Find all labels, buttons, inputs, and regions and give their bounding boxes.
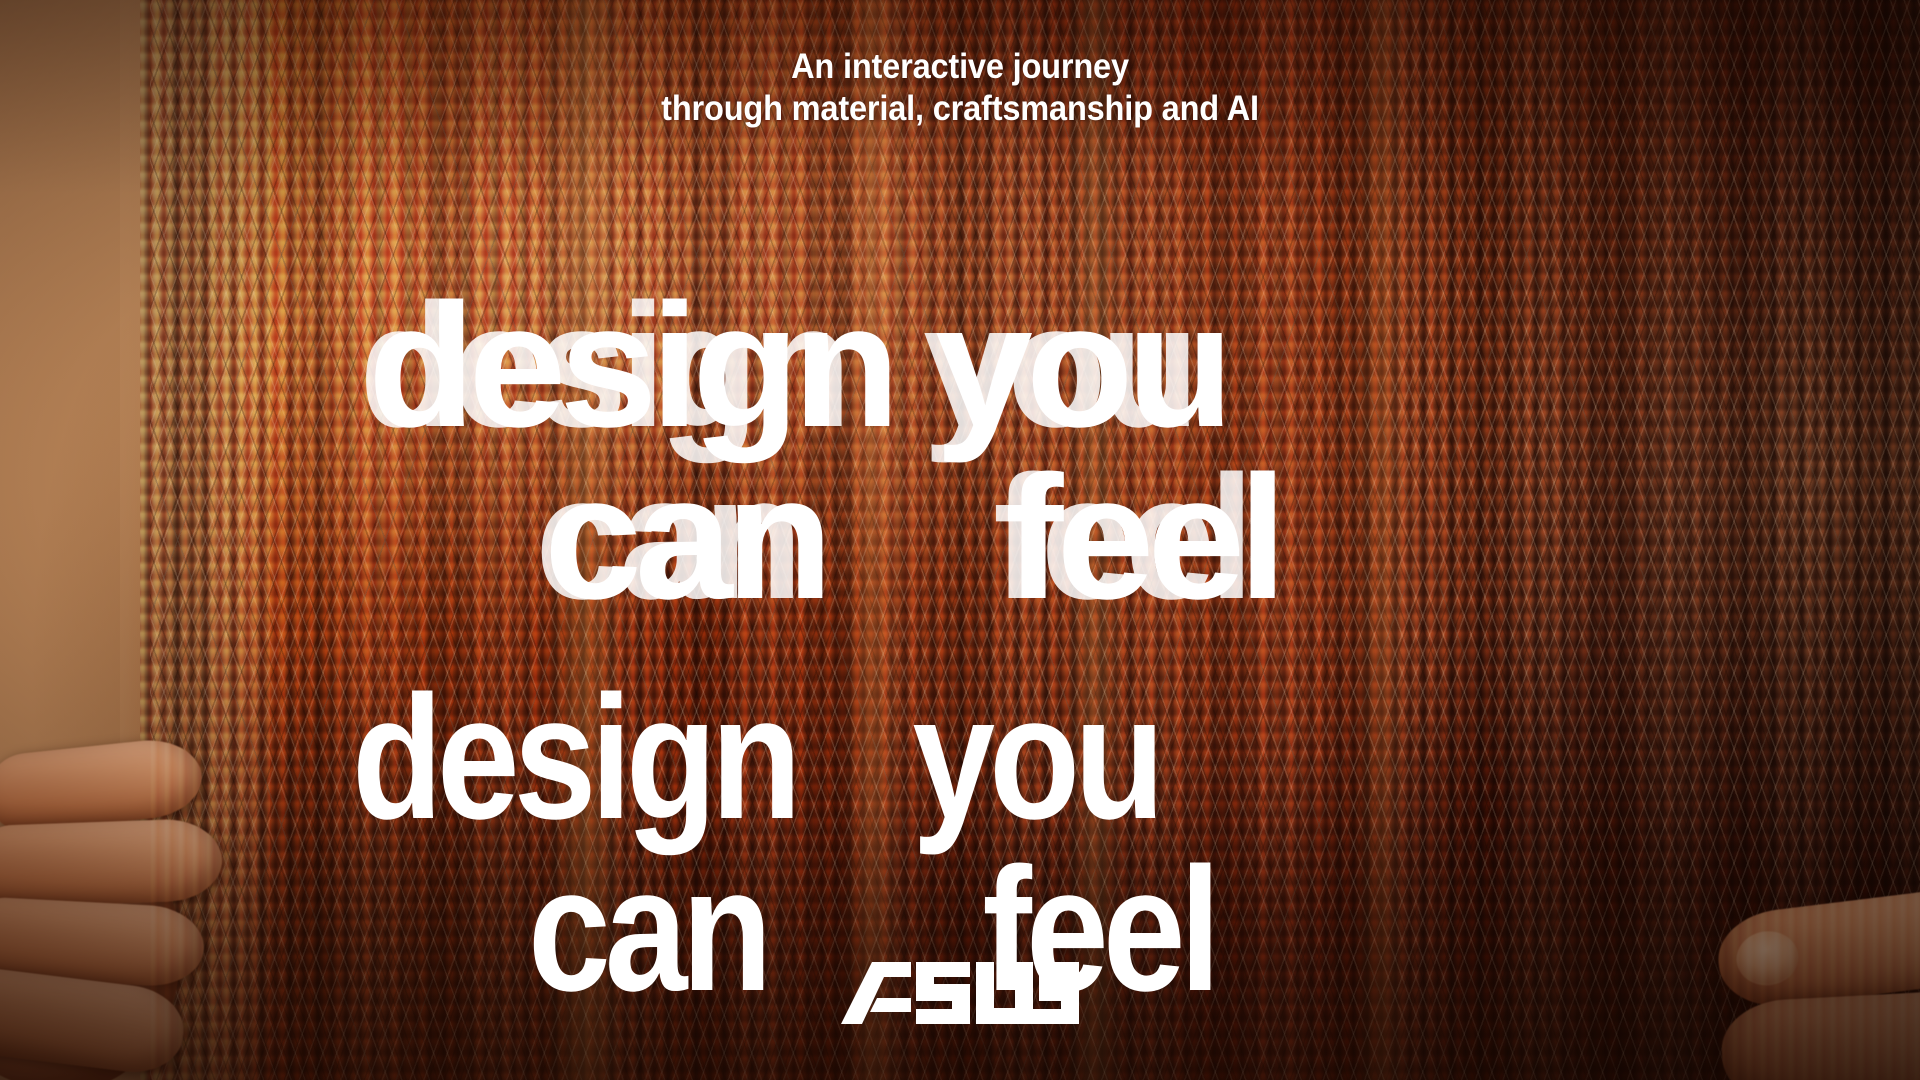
headline-word-layer-narrow: can <box>528 832 882 1028</box>
headline-word-layer-wide: you <box>893 268 1227 464</box>
headline-line-2: can can can feel feel feel <box>0 440 1920 636</box>
headline-word-layer-wide: design <box>368 268 893 464</box>
asus-logo <box>841 962 1079 1024</box>
headline-word-layer-wide: feel <box>963 440 1280 636</box>
subtitle-line-1: An interactive journey <box>67 46 1853 88</box>
subtitle-line-2: through material, craftsmanship and AI <box>67 88 1853 130</box>
headline-word-layer-wide: can <box>544 440 826 636</box>
hero-content: An interactive journey through material,… <box>0 0 1920 1080</box>
hero-banner: An interactive journey through material,… <box>0 0 1920 1080</box>
hero-headline: design design design you you you can can… <box>0 268 1920 636</box>
headline-line-1: design design design you you you <box>0 268 1920 464</box>
hero-subtitle: An interactive journey through material,… <box>67 46 1853 131</box>
